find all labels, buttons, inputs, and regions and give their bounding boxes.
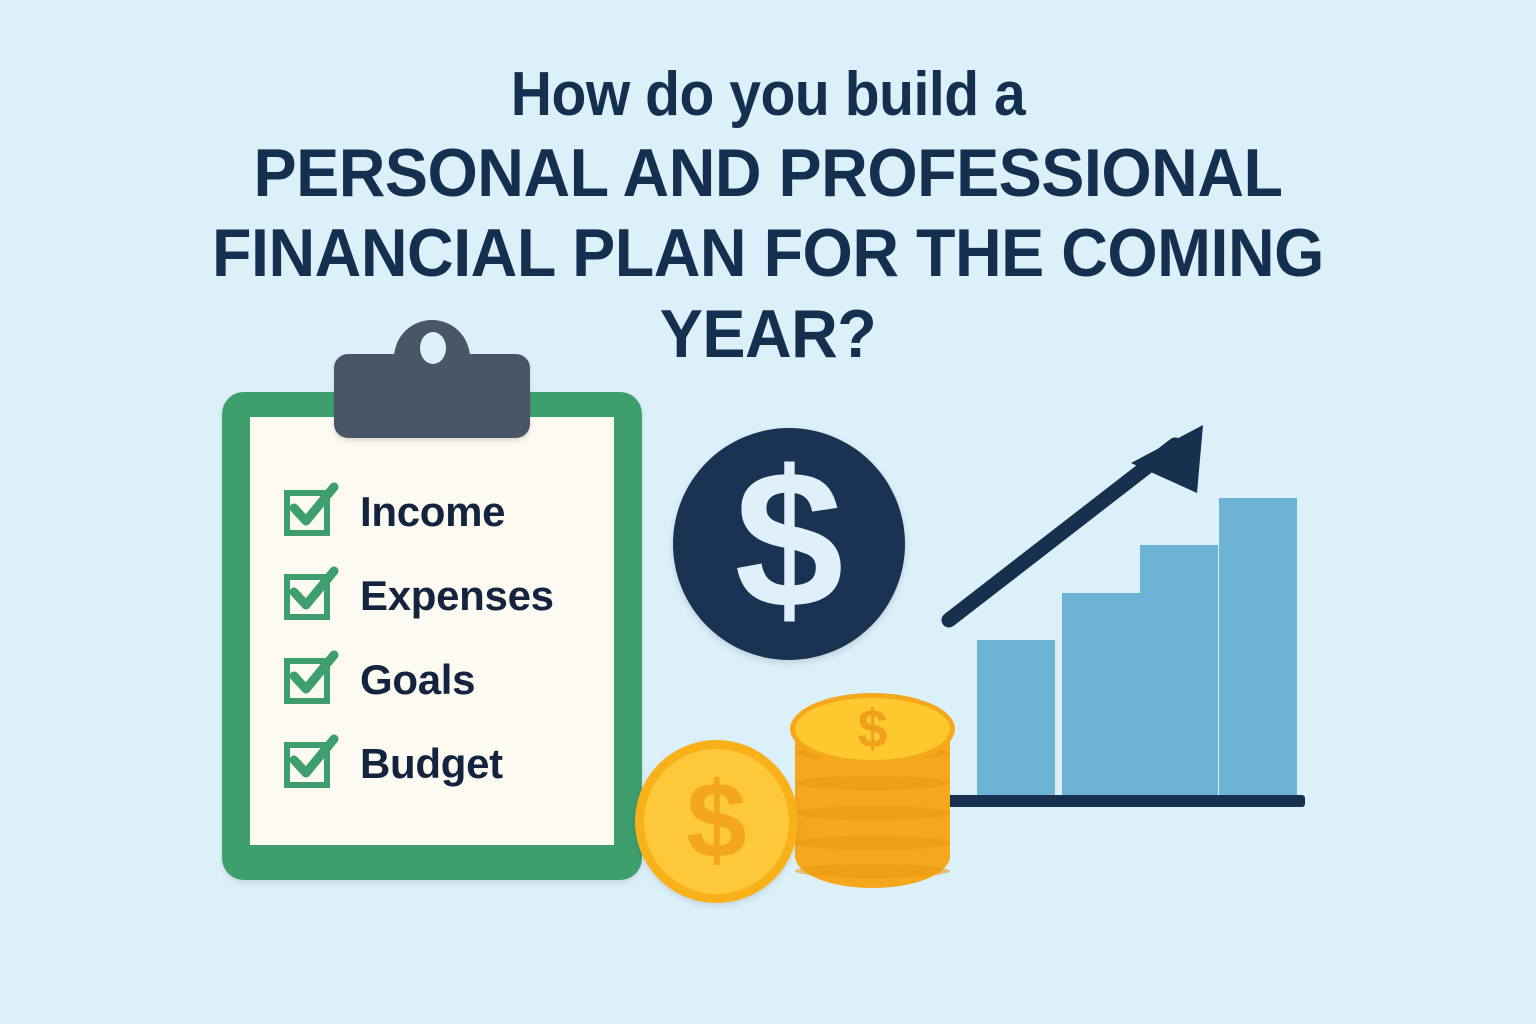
front-coin: $: [635, 740, 798, 903]
coin-stack-ridge: [795, 806, 950, 820]
clipboard-clip: [334, 354, 530, 438]
list-item-label: Goals: [360, 659, 475, 701]
checkbox-checked-icon[interactable]: [282, 736, 338, 792]
chart-bar-3: [1140, 545, 1218, 798]
clipboard-clip-hole: [420, 332, 446, 364]
coin-stack-ridge: [795, 864, 950, 878]
coins-illustration: $ $: [620, 690, 960, 920]
financial-checklist: Income Expenses Goals: [282, 470, 612, 806]
list-item-label: Income: [360, 491, 505, 533]
coin-stack-ridge: [795, 836, 950, 850]
title-headline: PERSONAL AND PROFESSIONAL FINANCIAL PLAN…: [38, 133, 1497, 374]
title-block: How do you build a PERSONAL AND PROFESSI…: [0, 62, 1536, 374]
dollar-sign-glyph: $: [673, 428, 905, 660]
checkbox-checked-icon[interactable]: [282, 568, 338, 624]
list-item[interactable]: Expenses: [282, 554, 612, 638]
chart-bar-2: [1062, 593, 1140, 798]
list-item[interactable]: Budget: [282, 722, 612, 806]
coin-stack-ridge: [795, 776, 950, 790]
title-line-1: How do you build a: [61, 62, 1474, 127]
front-coin-dollar-glyph: $: [686, 766, 746, 874]
poster-canvas: How do you build a PERSONAL AND PROFESSI…: [0, 0, 1536, 1024]
list-item[interactable]: Goals: [282, 638, 612, 722]
list-item[interactable]: Income: [282, 470, 612, 554]
coin-stack: $: [795, 698, 950, 906]
list-item-label: Budget: [360, 743, 503, 785]
dollar-badge-icon: $: [673, 428, 905, 660]
chart-bar-4: [1219, 498, 1297, 798]
coin-stack-dollar-glyph: $: [795, 698, 950, 760]
clipboard-illustration: Income Expenses Goals: [222, 392, 642, 880]
checkbox-checked-icon[interactable]: [282, 484, 338, 540]
checkbox-checked-icon[interactable]: [282, 652, 338, 708]
growth-bar-chart: [935, 415, 1310, 815]
chart-baseline-axis: [945, 795, 1305, 807]
chart-bar-1: [977, 640, 1055, 798]
list-item-label: Expenses: [360, 575, 554, 617]
